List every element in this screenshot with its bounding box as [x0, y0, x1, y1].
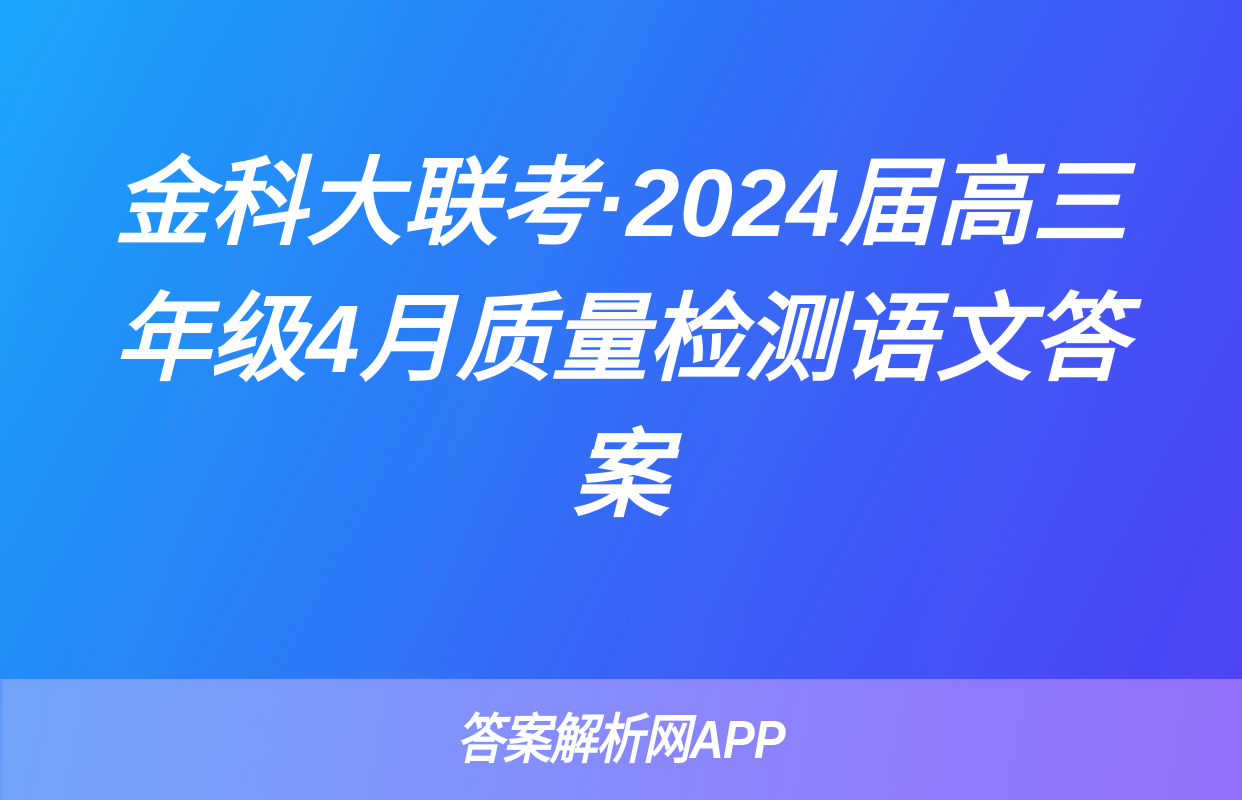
page-title: 金科大联考·2024届高三 年级4月质量检测语文答 案 — [75, 136, 1167, 544]
title-line-3: 案 — [75, 408, 1167, 544]
watermark-band: 答案解析网APP — [0, 679, 1242, 800]
app-watermark-text: 答案解析网APP — [457, 713, 785, 767]
band-left-edge-accent — [0, 679, 3, 800]
title-line-1: 金科大联考·2024届高三 — [75, 136, 1167, 272]
hero-gradient-section: 金科大联考·2024届高三 年级4月质量检测语文答 案 — [0, 0, 1242, 679]
title-line-2: 年级4月质量检测语文答 — [75, 272, 1167, 408]
answer-cover-poster: 金科大联考·2024届高三 年级4月质量检测语文答 案 答案解析网APP — [0, 0, 1242, 800]
